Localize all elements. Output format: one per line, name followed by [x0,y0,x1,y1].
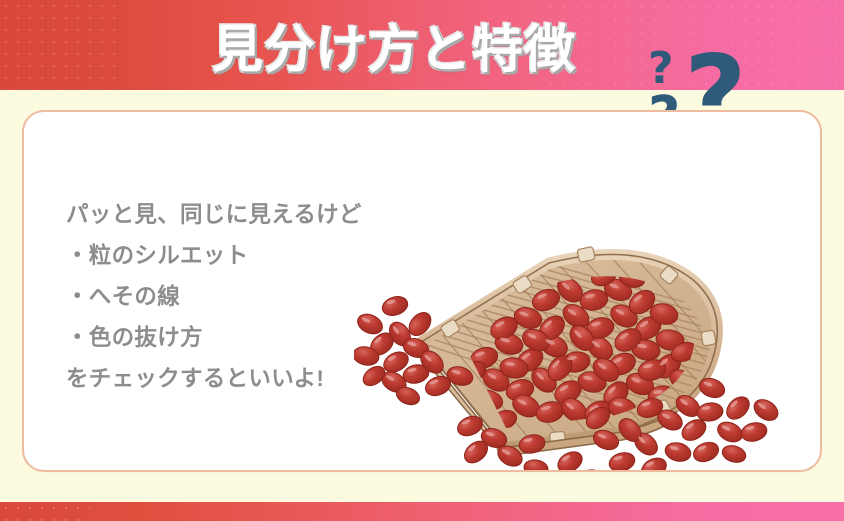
text-line-1: パッと見、同じに見えるけど [66,194,406,235]
footer-bar [0,502,844,521]
slide-canvas: 見分け方と特徴 ? ? ? パッと見、同じに見えるけど ・粒のシルエット ・へそ… [0,0,844,521]
footer-dot-pattern [0,502,90,521]
bamboo-sieve-with-adzuki-beans-illustration [354,240,814,472]
content-card: パッと見、同じに見えるけど ・粒のシルエット ・へその線 ・色の抜け方 をチェッ… [22,110,822,472]
